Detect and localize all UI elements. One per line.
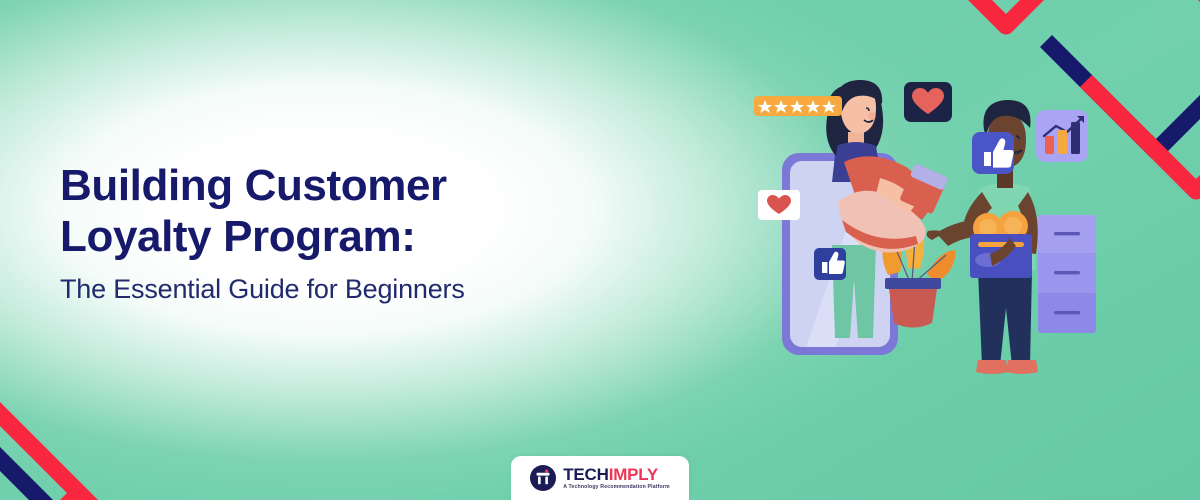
techimply-logo-mark: [530, 465, 556, 491]
title-line-1: Building Customer: [60, 161, 447, 210]
logo-word-tech: TECH: [563, 465, 608, 484]
logo-wordmark: TECHIMPLY: [563, 466, 670, 483]
filing-cabinet-icon: [1038, 215, 1096, 333]
logo-tagline: A Technology Recommendation Platform: [563, 485, 670, 490]
hero-illustration: [740, 70, 1160, 400]
title-line-2: Loyalty Program:: [60, 211, 680, 262]
techimply-logo-text: TECHIMPLY A Technology Recommendation Pl…: [563, 466, 670, 490]
bar-chart-badge-icon: [1036, 110, 1088, 162]
page-title: Building Customer Loyalty Program:: [60, 160, 680, 263]
logo-word-imply: IMPLY: [609, 465, 658, 484]
techimply-logo[interactable]: TECHIMPLY A Technology Recommendation Pl…: [511, 456, 689, 500]
orange-box-illustration: [970, 211, 1032, 278]
heart-badge-dark-icon: [904, 82, 952, 122]
page-subtitle: The Essential Guide for Beginners: [60, 273, 680, 305]
chevron-pattern-bottom-left: [0, 288, 204, 500]
star-rating-badge: [754, 96, 842, 116]
heart-badge-white-icon: [758, 190, 800, 220]
promo-banner: Building Customer Loyalty Program: The E…: [0, 0, 1200, 500]
thumbs-up-badge-navy-icon: [814, 248, 846, 280]
headline-block: Building Customer Loyalty Program: The E…: [60, 160, 680, 305]
thumbs-up-badge-blue-icon: [972, 132, 1014, 174]
